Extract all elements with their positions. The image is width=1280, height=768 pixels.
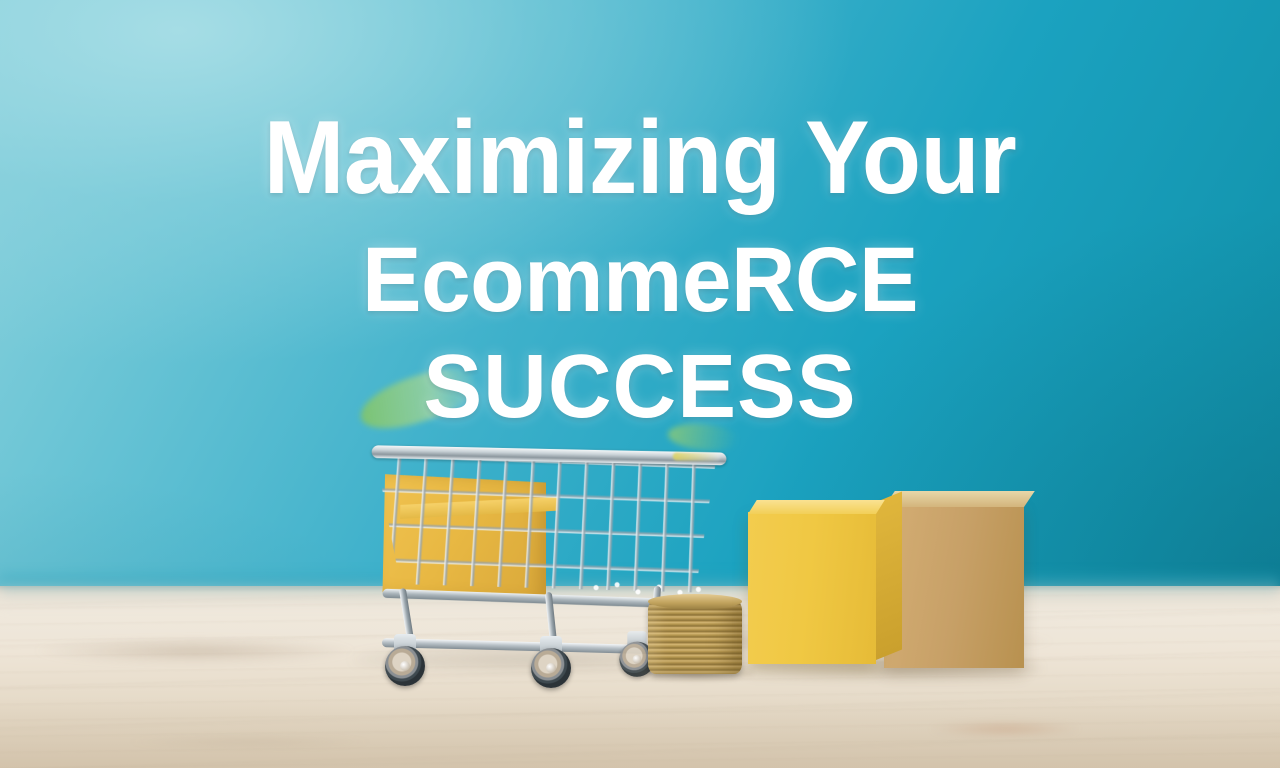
- banner-image: Maximizing Your EcommeRCE SUCCESS: [0, 0, 1280, 768]
- caster-hub: [633, 655, 642, 664]
- cart-caster: [382, 634, 428, 686]
- box-back: [884, 504, 1024, 668]
- box-front-side-face: [876, 491, 902, 660]
- wood-knot: [120, 736, 380, 748]
- box-front: [748, 512, 876, 664]
- coin-stack-top: [648, 594, 742, 609]
- coin-stack-body: [648, 600, 742, 674]
- cart-basket: [368, 449, 724, 599]
- wood-knot: [30, 638, 360, 664]
- coin-stack: [648, 600, 742, 674]
- caster-hub: [546, 663, 556, 673]
- rim-glint: [673, 452, 721, 461]
- cart-wire-mesh: [372, 455, 719, 593]
- cart-caster: [528, 636, 574, 688]
- box-back-top-face: [884, 491, 1035, 507]
- box-front-top-face: [748, 500, 885, 514]
- caster-hub: [400, 661, 410, 671]
- wood-knot: [930, 722, 1080, 736]
